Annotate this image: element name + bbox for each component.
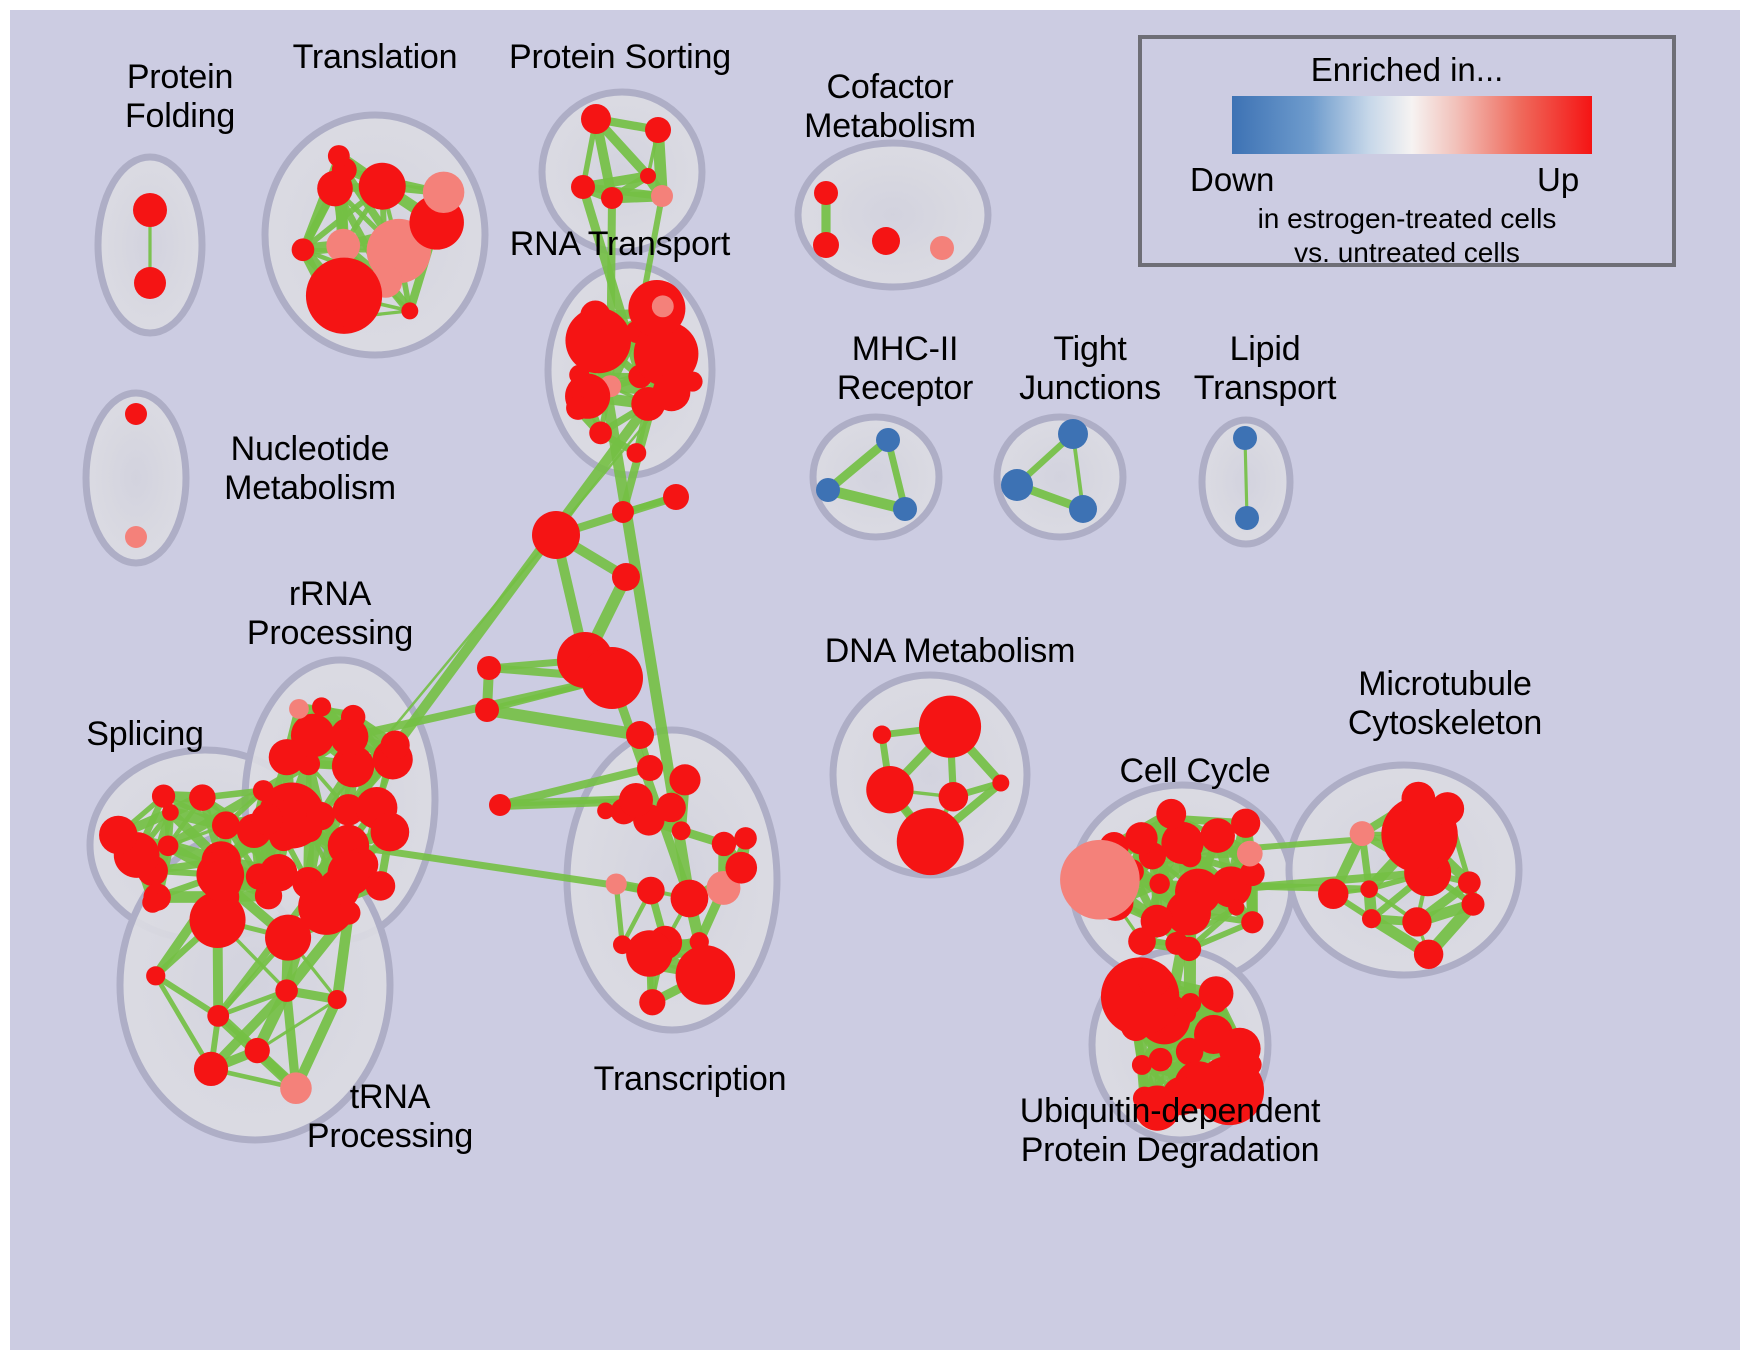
gene-set-node[interactable] xyxy=(597,802,614,819)
gene-set-node[interactable] xyxy=(245,1038,270,1063)
gene-set-node[interactable] xyxy=(671,880,709,918)
gene-set-node[interactable] xyxy=(152,785,175,808)
gene-set-node[interactable] xyxy=(134,267,166,299)
gene-set-node[interactable] xyxy=(212,811,240,839)
gene-set-node[interactable] xyxy=(672,821,691,840)
gene-set-node[interactable] xyxy=(341,705,365,729)
gene-set-node[interactable] xyxy=(371,813,410,852)
gene-set-node[interactable] xyxy=(569,365,589,385)
gene-set-node[interactable] xyxy=(1156,799,1186,829)
gene-set-node[interactable] xyxy=(627,443,647,463)
gene-set-node[interactable] xyxy=(207,1005,229,1027)
gene-set-node[interactable] xyxy=(589,422,612,445)
gene-set-node[interactable] xyxy=(645,117,671,143)
gene-set-node[interactable] xyxy=(201,860,242,901)
cluster-label-splicing: Splicing xyxy=(55,715,235,754)
gene-set-node[interactable] xyxy=(612,563,640,591)
cluster-label-microtubule_cytoskeleton: Microtubule Cytoskeleton xyxy=(1300,665,1590,743)
gene-set-node[interactable] xyxy=(1240,1054,1262,1076)
gene-set-node[interactable] xyxy=(1149,874,1169,894)
gene-set-node[interactable] xyxy=(725,852,757,884)
gene-set-node[interactable] xyxy=(651,185,673,207)
gene-set-node[interactable] xyxy=(1125,822,1157,854)
gene-set-node[interactable] xyxy=(489,794,511,816)
gene-set-node[interactable] xyxy=(669,764,700,795)
gene-set-node[interactable] xyxy=(1001,469,1033,501)
gene-set-node[interactable] xyxy=(1060,840,1140,920)
gene-set-node[interactable] xyxy=(640,168,656,184)
gene-set-node[interactable] xyxy=(676,945,735,1004)
gene-set-node[interactable] xyxy=(566,396,590,420)
cluster-label-trna_processing: tRNA Processing xyxy=(290,1078,490,1156)
gene-set-node[interactable] xyxy=(663,484,689,510)
gene-set-node[interactable] xyxy=(189,784,216,811)
gene-set-node[interactable] xyxy=(873,726,891,744)
gene-set-node[interactable] xyxy=(532,511,580,559)
gene-set-node[interactable] xyxy=(1128,928,1156,956)
gene-set-node[interactable] xyxy=(292,238,315,261)
gene-set-node[interactable] xyxy=(142,892,163,913)
legend-box: Enriched in... Down Up in estrogen-treat… xyxy=(1138,35,1676,267)
gene-set-node[interactable] xyxy=(619,783,653,817)
gene-set-node[interactable] xyxy=(1132,1055,1152,1075)
gene-set-node[interactable] xyxy=(893,497,917,521)
gene-set-node[interactable] xyxy=(814,181,838,205)
legend-subtitle-line2: vs. untreated cells xyxy=(1142,237,1672,269)
gene-set-node[interactable] xyxy=(606,873,627,894)
gene-set-node[interactable] xyxy=(328,145,350,167)
gene-set-node[interactable] xyxy=(601,187,623,209)
cluster-label-transcription: Transcription xyxy=(565,1060,815,1099)
legend-subtitle-line1: in estrogen-treated cells xyxy=(1142,203,1672,235)
gene-set-node[interactable] xyxy=(477,656,501,680)
cluster-label-lipid_transport: Lipid Transport xyxy=(1165,330,1365,408)
gene-set-node[interactable] xyxy=(1200,818,1235,853)
gene-set-node[interactable] xyxy=(1360,880,1378,898)
cluster-label-mhc_ii_receptor: MHC-II Receptor xyxy=(805,330,1005,408)
gene-set-node[interactable] xyxy=(366,871,396,901)
gene-set-node[interactable] xyxy=(1058,419,1088,449)
gene-set-node[interactable] xyxy=(992,775,1009,792)
gene-set-node[interactable] xyxy=(1233,426,1257,450)
gene-set-node[interactable] xyxy=(571,175,595,199)
gene-set-node[interactable] xyxy=(381,731,410,760)
gene-set-node[interactable] xyxy=(475,698,499,722)
gene-set-node[interactable] xyxy=(146,966,165,985)
gene-set-node[interactable] xyxy=(1149,1048,1173,1072)
gene-set-node[interactable] xyxy=(939,782,969,812)
gene-set-node[interactable] xyxy=(639,989,665,1015)
gene-set-node[interactable] xyxy=(125,526,147,548)
gene-set-node[interactable] xyxy=(99,816,137,854)
gene-set-node[interactable] xyxy=(1199,976,1234,1011)
gene-set-node[interactable] xyxy=(637,877,665,905)
legend-title: Enriched in... xyxy=(1142,51,1672,89)
gene-set-node[interactable] xyxy=(1402,907,1431,936)
gene-set-node[interactable] xyxy=(194,1052,228,1086)
gene-set-node[interactable] xyxy=(612,501,634,523)
gene-set-node[interactable] xyxy=(255,882,282,909)
cluster-label-cell_cycle: Cell Cycle xyxy=(1095,752,1295,791)
gene-set-node[interactable] xyxy=(359,163,406,210)
gene-set-node[interactable] xyxy=(1350,821,1375,846)
network-edge xyxy=(1245,438,1247,518)
gene-set-node[interactable] xyxy=(1138,962,1172,996)
cluster-label-ubiquitin_protein_degradation: Ubiquitin-dependent Protein Degradation xyxy=(960,1092,1380,1170)
gene-set-node[interactable] xyxy=(872,227,900,255)
gene-set-node[interactable] xyxy=(401,302,418,319)
gene-set-node[interactable] xyxy=(1228,899,1244,915)
gene-set-node[interactable] xyxy=(1401,782,1435,816)
gene-set-node[interactable] xyxy=(581,647,643,709)
gene-set-node[interactable] xyxy=(580,301,610,331)
gene-set-node[interactable] xyxy=(876,428,900,452)
gene-set-node[interactable] xyxy=(656,793,686,823)
gene-set-node[interactable] xyxy=(734,827,756,849)
gene-set-node[interactable] xyxy=(641,955,661,975)
gene-set-node[interactable] xyxy=(423,172,464,213)
gene-set-node[interactable] xyxy=(897,808,964,875)
gene-set-node[interactable] xyxy=(1235,506,1259,530)
gene-set-node[interactable] xyxy=(581,104,611,134)
gene-set-node[interactable] xyxy=(326,229,360,263)
gene-set-node[interactable] xyxy=(1180,993,1201,1014)
gene-set-node[interactable] xyxy=(1414,940,1443,969)
legend-color-gradient-bar xyxy=(1232,96,1592,154)
gene-set-node[interactable] xyxy=(637,755,663,781)
gene-set-node[interactable] xyxy=(613,935,632,954)
gene-set-node[interactable] xyxy=(930,236,954,260)
gene-set-node[interactable] xyxy=(712,832,736,856)
network-edge xyxy=(487,710,640,735)
cluster-label-nucleotide_metabolism: Nucleotide Metabolism xyxy=(200,430,420,508)
gene-set-node[interactable] xyxy=(275,979,298,1002)
gene-set-node[interactable] xyxy=(265,915,311,961)
gene-set-node[interactable] xyxy=(652,295,674,317)
gene-set-node[interactable] xyxy=(866,766,913,813)
gene-set-node[interactable] xyxy=(1177,937,1201,961)
enrichment-map-figure: Protein FoldingTranslationProtein Sortin… xyxy=(0,0,1750,1360)
gene-set-node[interactable] xyxy=(337,901,361,925)
cluster-label-cofactor_metabolism: Cofactor Metabolism xyxy=(790,68,990,146)
gene-set-node[interactable] xyxy=(626,721,654,749)
cluster-label-tight_junctions: Tight Junctions xyxy=(990,330,1190,408)
gene-set-node[interactable] xyxy=(133,193,167,227)
gene-set-node[interactable] xyxy=(1069,495,1097,523)
gene-set-node[interactable] xyxy=(919,696,981,758)
gene-set-node[interactable] xyxy=(1318,879,1348,909)
gene-set-node[interactable] xyxy=(1362,909,1381,928)
gene-set-node[interactable] xyxy=(816,478,840,502)
legend-down-label: Down xyxy=(1190,161,1274,199)
gene-set-node[interactable] xyxy=(1166,890,1211,935)
gene-set-node[interactable] xyxy=(312,697,331,716)
gene-set-node[interactable] xyxy=(289,699,309,719)
legend-up-label: Up xyxy=(1537,161,1579,199)
gene-set-node[interactable] xyxy=(269,739,305,775)
gene-set-node[interactable] xyxy=(1231,809,1260,838)
gene-set-node[interactable] xyxy=(125,403,147,425)
gene-set-node[interactable] xyxy=(1241,911,1263,933)
gene-set-node[interactable] xyxy=(813,232,839,258)
gene-set-node[interactable] xyxy=(158,836,179,857)
gene-set-node[interactable] xyxy=(1431,792,1464,825)
gene-set-node[interactable] xyxy=(1237,841,1263,867)
cluster-label-dna_metabolism: DNA Metabolism xyxy=(805,632,1095,671)
gene-set-node[interactable] xyxy=(1462,893,1485,916)
gene-set-node[interactable] xyxy=(251,803,283,835)
cluster-label-protein_sorting: Protein Sorting xyxy=(490,38,750,77)
gene-set-node[interactable] xyxy=(1458,871,1481,894)
gene-set-node[interactable] xyxy=(329,309,348,328)
cluster-halo-mhc_ii_receptor xyxy=(813,417,939,537)
cluster-label-rna_transport: RNA Transport xyxy=(500,225,740,264)
cluster-label-rrna_processing: rRNA Processing xyxy=(230,575,430,653)
gene-set-node[interactable] xyxy=(683,372,703,392)
gene-set-node[interactable] xyxy=(328,990,347,1009)
cluster-label-translation: Translation xyxy=(245,38,505,77)
